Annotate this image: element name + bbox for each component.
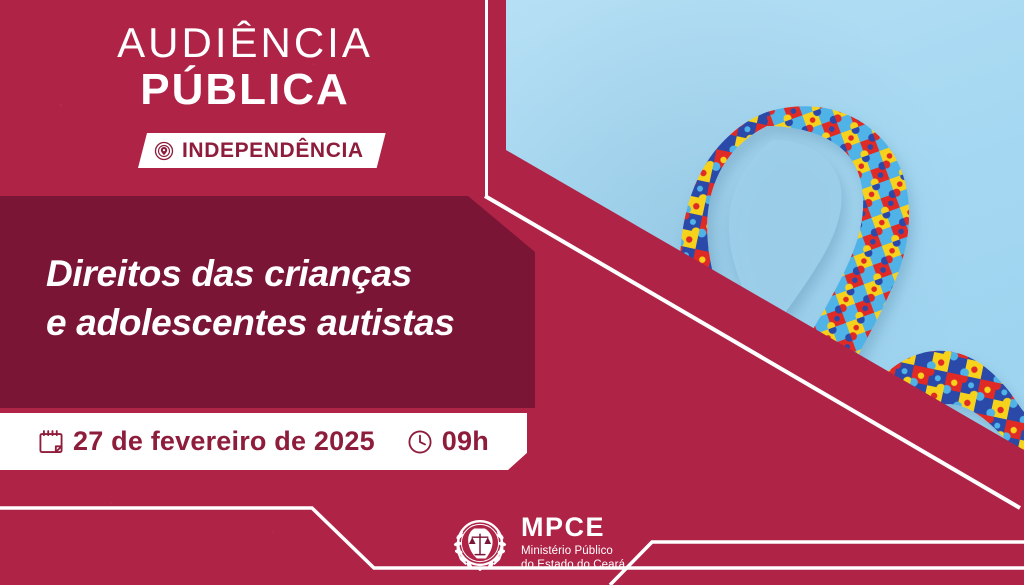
heading-line-2: PÚBLICA [0, 68, 490, 112]
clock-icon [407, 429, 433, 455]
date-time-bar: 27 de fevereiro de 2025 09h [0, 413, 527, 470]
map-pin-icon [154, 141, 174, 161]
event-title-line-1: Direitos das crianças [46, 250, 506, 299]
date-group: 27 de fevereiro de 2025 [38, 428, 375, 455]
location-badge-label: INDEPENDÊNCIA [182, 140, 364, 161]
event-poster: AUDIÊNCIA PÚBLICA INDEPENDÊNCIA Direitos… [0, 0, 1024, 585]
mpce-emblem-icon [449, 512, 511, 574]
event-time: 09h [442, 428, 489, 455]
mpce-acronym: MPCE [521, 514, 625, 541]
event-date: 27 de fevereiro de 2025 [73, 428, 375, 455]
time-group: 09h [407, 428, 489, 455]
mpce-logo: MPCE Ministério Público do Estado do Cea… [449, 512, 625, 574]
location-badge: INDEPENDÊNCIA [138, 133, 386, 168]
heading-line-1: AUDIÊNCIA [0, 22, 490, 64]
event-title-line-2: e adolescentes autistas [46, 299, 506, 348]
mpce-subtitle-line-2: do Estado do Ceará [521, 558, 625, 572]
event-title: Direitos das crianças e adolescentes aut… [46, 250, 506, 348]
calendar-icon [38, 429, 64, 455]
poster-heading: AUDIÊNCIA PÚBLICA [0, 22, 490, 112]
mpce-subtitle-line-1: Ministério Público [521, 544, 625, 558]
mpce-logo-text: MPCE Ministério Público do Estado do Cea… [521, 514, 625, 572]
